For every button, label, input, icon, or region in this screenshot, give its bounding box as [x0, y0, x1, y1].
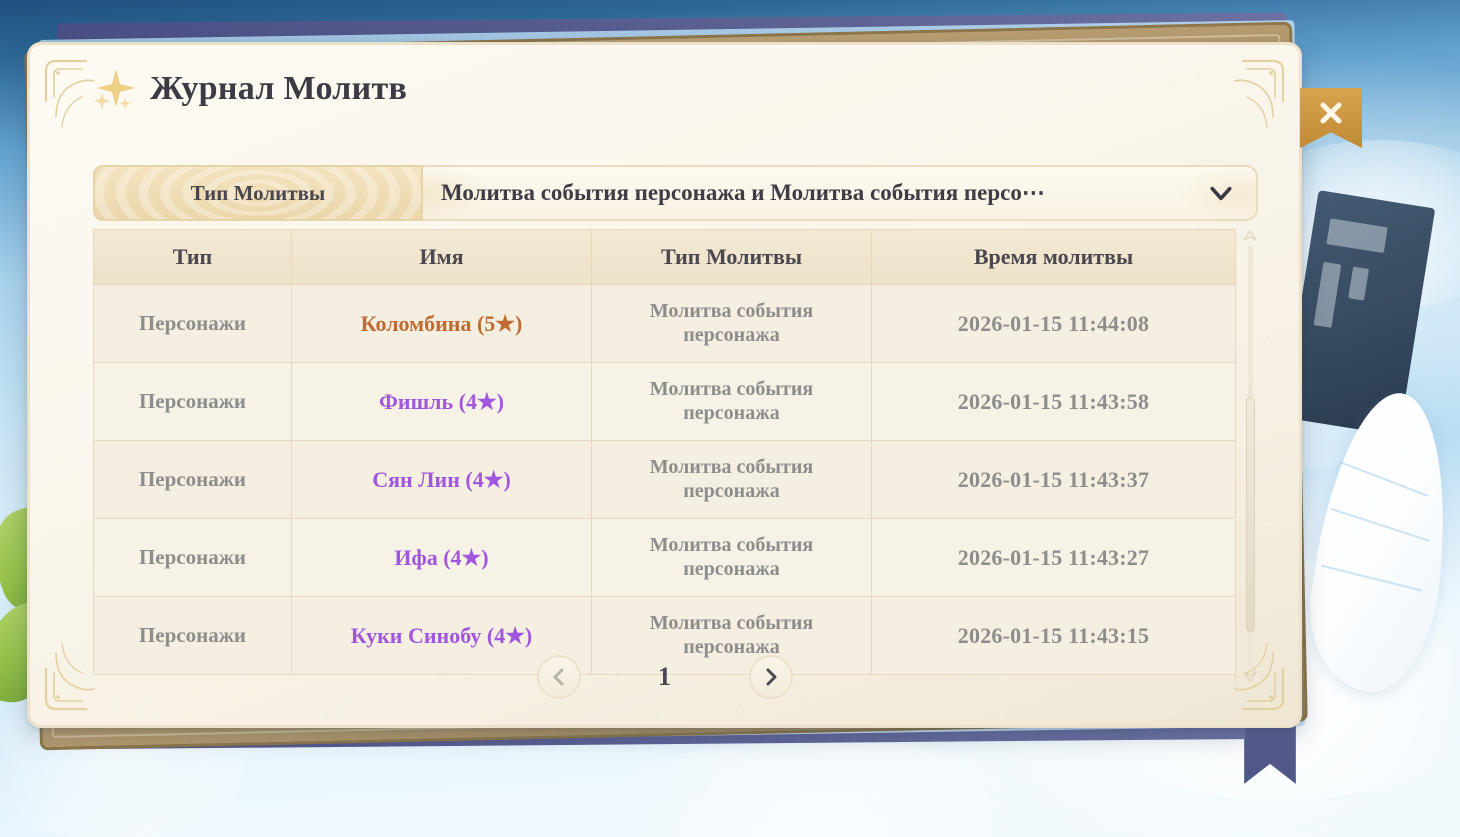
cell-time: 2026-01-15 11:43:37: [871, 441, 1235, 518]
sparkle-icon: [90, 65, 138, 113]
chevron-left-icon: [549, 667, 569, 687]
column-header-type: Тип: [93, 230, 291, 284]
filter-bar: Тип Молитвы Молитва события персонажа и …: [93, 165, 1258, 221]
close-button[interactable]: [1300, 88, 1362, 148]
chevron-right-icon: [761, 667, 781, 687]
wish-history-table-wrap: Тип Имя Тип Молитвы Время молитвы Персон…: [93, 229, 1258, 683]
cell-type: Персонажи: [93, 519, 291, 596]
table-row[interactable]: Персонажи Коломбина (5★) Молитва события…: [93, 285, 1235, 363]
column-header-wish-type: Тип Молитвы: [591, 230, 871, 284]
cell-time: 2026-01-15 11:43:58: [871, 363, 1235, 440]
cell-type: Персонажи: [93, 441, 291, 518]
wish-history-panel: Журнал Молитв Тип Молитвы Молитва событи…: [27, 42, 1302, 728]
filter-label: Тип Молитвы: [93, 165, 423, 221]
cell-type: Персонажи: [93, 363, 291, 440]
scrollbar-track[interactable]: [1248, 246, 1253, 666]
corner-ornament-icon: [1195, 57, 1287, 149]
table-row[interactable]: Персонажи Ифа (4★) Молитва события персо…: [93, 519, 1235, 597]
feather-decoration: [1300, 385, 1460, 698]
cell-name: Ифа (4★): [291, 519, 591, 596]
table-row[interactable]: Персонажи Фишль (4★) Молитва события пер…: [93, 363, 1235, 441]
chevron-down-icon: [1208, 180, 1234, 206]
page-title: Журнал Молитв: [150, 70, 407, 108]
wish-type-dropdown-value: Молитва события персонажа и Молитва собы…: [441, 180, 1045, 206]
scrollbar-thumb[interactable]: [1246, 397, 1255, 632]
next-page-button[interactable]: [749, 655, 793, 699]
table-scrollbar[interactable]: [1242, 229, 1258, 683]
wish-history-table: Тип Имя Тип Молитвы Время молитвы Персон…: [93, 229, 1236, 683]
prev-page-button[interactable]: [537, 655, 581, 699]
scroll-up-arrow-icon[interactable]: [1243, 229, 1257, 243]
table-row[interactable]: Персонажи Сян Лин (4★) Молитва события п…: [93, 441, 1235, 519]
cell-wish-type: Молитва события персонажа: [591, 363, 871, 440]
cell-wish-type: Молитва события персонажа: [591, 285, 871, 362]
column-header-name: Имя: [291, 230, 591, 284]
cell-wish-type: Молитва события персонажа: [591, 441, 871, 518]
cell-name: Коломбина (5★): [291, 285, 591, 362]
close-x-icon: [1316, 98, 1346, 128]
cell-name: Сян Лин (4★): [291, 441, 591, 518]
column-header-time: Время молитвы: [871, 230, 1235, 284]
wish-type-dropdown[interactable]: Молитва события персонажа и Молитва собы…: [411, 165, 1258, 221]
cell-time: 2026-01-15 11:43:27: [871, 519, 1235, 596]
pagination: 1: [30, 655, 1299, 699]
cell-time: 2026-01-15 11:44:08: [871, 285, 1235, 362]
cloud-decoration: [560, 740, 1080, 837]
cell-type: Персонажи: [93, 285, 291, 362]
game-screen: Журнал Молитв Тип Молитвы Молитва событи…: [0, 0, 1460, 837]
panel-header: Журнал Молитв: [90, 65, 407, 113]
cell-name: Фишль (4★): [291, 363, 591, 440]
table-header-row: Тип Имя Тип Молитвы Время молитвы: [93, 229, 1235, 285]
cell-wish-type: Молитва события персонажа: [591, 519, 871, 596]
current-page-number: 1: [651, 662, 679, 692]
